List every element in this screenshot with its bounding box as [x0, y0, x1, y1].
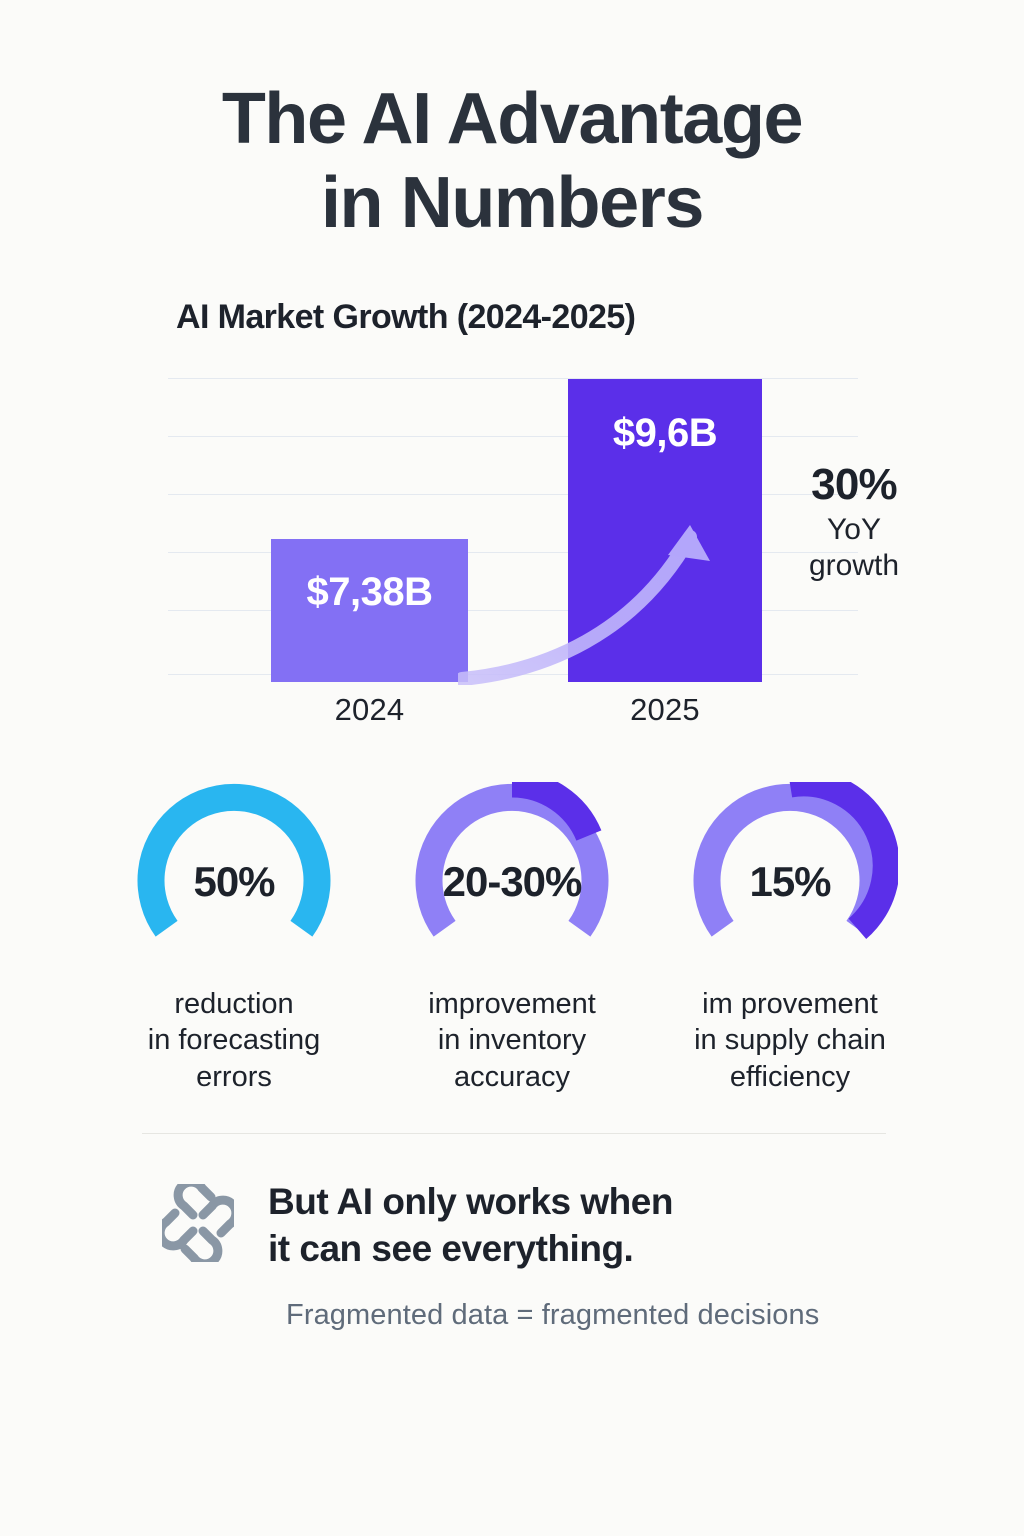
- page-title: The AI Advantage in Numbers: [0, 78, 1024, 245]
- gauge-row: 50% reduction in forecasting errors 20-3…: [0, 782, 1024, 1095]
- gauge-value-inventory: 20-30%: [404, 858, 620, 906]
- bar-value-2024: $7,38B: [271, 570, 468, 615]
- gauge-label-forecasting: reduction in forecasting errors: [110, 986, 358, 1095]
- footer-subtext: Fragmented data = fragmented decisions: [286, 1299, 922, 1332]
- gauge-label-supply-chain: im provement in supply chain efficiency: [666, 986, 914, 1095]
- gauge-ring-forecasting: 50%: [126, 782, 342, 948]
- gauge-ring-supply-chain: 15%: [682, 782, 898, 948]
- bar-chart: $7,38B $9,6B: [168, 370, 858, 682]
- gauge-value-supply-chain: 15%: [682, 858, 898, 906]
- x-label-2025: 2025: [568, 692, 762, 728]
- footer-headline: But AI only works when it can see everyt…: [268, 1178, 673, 1273]
- title-line-2: in Numbers: [0, 162, 1024, 246]
- footer-section: But AI only works when it can see everyt…: [162, 1178, 922, 1332]
- bar-2024: $7,38B: [271, 539, 468, 682]
- yoy-growth-line-2: growth: [809, 549, 899, 582]
- bar-2025: $9,6B: [568, 379, 762, 682]
- title-line-1: The AI Advantage: [0, 78, 1024, 162]
- bar-value-2025: $9,6B: [568, 411, 762, 456]
- gauge-ring-inventory: 20-30%: [404, 782, 620, 948]
- chart-title: AI Market Growth (2024-2025): [176, 298, 635, 337]
- gauge-card-supply-chain: 15% im provement in supply chain efficie…: [666, 782, 914, 1095]
- yoy-growth-line-1: YoY: [827, 513, 881, 546]
- yoy-growth-annotation: 30% YoY growth: [784, 462, 924, 583]
- gauge-value-forecasting: 50%: [126, 858, 342, 906]
- infographic-page: The AI Advantage in Numbers AI Market Gr…: [0, 0, 1024, 1536]
- yoy-growth-label: YoY growth: [784, 512, 924, 583]
- gauge-label-inventory: improvement in inventory accuracy: [388, 986, 636, 1095]
- chart-x-axis: 2024 2025: [168, 692, 858, 738]
- yoy-growth-value: 30%: [784, 462, 924, 508]
- section-divider: [142, 1133, 886, 1134]
- gauge-card-forecasting: 50% reduction in forecasting errors: [110, 782, 358, 1095]
- broken-chain-link-icon: [162, 1184, 234, 1262]
- x-label-2024: 2024: [271, 692, 468, 728]
- gauge-card-inventory: 20-30% improvement in inventory accuracy: [388, 782, 636, 1095]
